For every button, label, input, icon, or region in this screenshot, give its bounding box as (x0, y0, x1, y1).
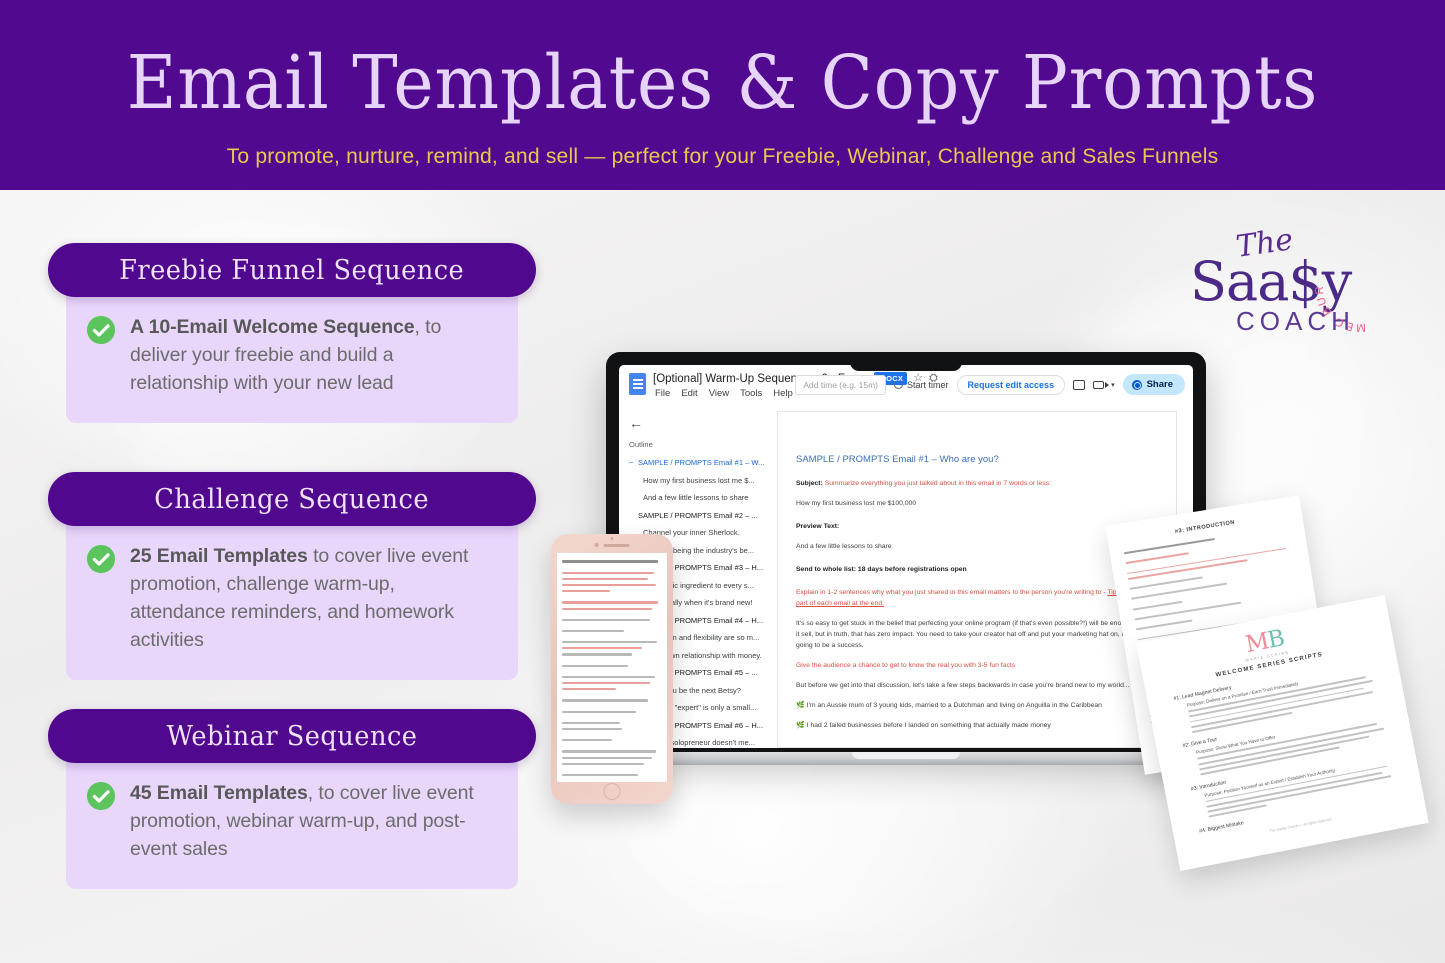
doc-instruction-1: Explain in 1-2 sentences why what you ju… (796, 587, 1160, 609)
subject-prompt: Summarize everything you just talked abo… (825, 480, 1051, 487)
timer-icon (894, 380, 903, 389)
share-globe-icon (1132, 380, 1142, 390)
card-text: A 10-Email Welcome Sequence, to deliver … (130, 313, 494, 397)
doc-instruction-2: Give the audience a chance to get to kno… (796, 660, 1160, 671)
phone-screen (557, 553, 667, 782)
phone-speaker (595, 543, 630, 547)
phone-text-line (562, 763, 644, 765)
doc-body-1: It's so easy to get stuck in the belief … (796, 618, 1160, 651)
request-edit-access-button[interactable]: Request edit access (957, 375, 1066, 395)
check-circle-icon (86, 315, 116, 345)
phone-text-line (562, 608, 652, 610)
page-header: Email Templates & Copy Prompts To promot… (0, 0, 1445, 190)
laptop-screen: [Optional] Warm-Up Sequence x 6 - For ..… (619, 365, 1193, 748)
phone-mockup (551, 534, 673, 804)
comment-icon[interactable] (1073, 380, 1085, 390)
card-heading: Webinar Sequence (167, 721, 418, 752)
share-label: Share (1147, 379, 1173, 390)
outline-heading[interactable]: SAMPLE / PROMPTS Email #2 – ... (629, 511, 765, 520)
card-text: 45 Email Templates, to cover live event … (130, 779, 494, 863)
docs-topbar: [Optional] Warm-Up Sequence x 6 - For ..… (619, 365, 1193, 409)
docs-body: ← Outline SAMPLE / PROMPTS Email #1 – W.… (619, 409, 1193, 748)
menu-tools[interactable]: Tools (740, 388, 762, 399)
card-body: A 10-Email Welcome Sequence, to deliver … (66, 287, 518, 423)
brand-logo: The Saa$y COACH MEC BURRAGE (1188, 228, 1403, 340)
docs-toolbar-right: Add time (e.g. 15m) Start timer Request … (795, 374, 1185, 395)
phone-text-line (562, 584, 656, 586)
phone-text-line (562, 739, 612, 741)
feature-card-webinar: Webinar Sequence 45 Email Templates, to … (48, 709, 536, 889)
spacer (562, 780, 662, 782)
phone-text-line (562, 572, 654, 574)
chevron-down-icon[interactable]: ▾ (1111, 381, 1115, 389)
menu-edit[interactable]: Edit (681, 388, 697, 399)
camera-lens (1105, 382, 1109, 388)
doc-bullet-2: I had 2 failed businesses before I lande… (796, 720, 1160, 731)
camera-body (1093, 381, 1104, 389)
phone-camera-icon (611, 537, 614, 540)
menu-view[interactable]: View (709, 388, 729, 399)
card-text: 25 Email Templates to cover live event p… (130, 542, 494, 654)
share-button[interactable]: Share (1123, 374, 1185, 395)
card-text-bold: 45 Email Templates (130, 782, 308, 804)
feature-card-freebie: Freebie Funnel Sequence A 10-Email Welco… (48, 243, 536, 423)
spacer (562, 660, 662, 665)
phone-earpiece (604, 544, 630, 547)
menu-file[interactable]: File (655, 388, 670, 399)
laptop-base-notch (852, 752, 960, 759)
phone-text-line (562, 653, 632, 655)
phone-text-line (562, 641, 657, 643)
menu-help[interactable]: Help (773, 388, 793, 399)
card-body: 25 Email Templates to cover live event p… (66, 516, 518, 680)
phone-text-line (562, 699, 648, 701)
phone-text-line (562, 590, 610, 592)
start-timer-label: Start timer (907, 380, 949, 390)
doc-subject-line: Subject: Summarize everything you just t… (796, 478, 1160, 489)
check-circle-icon (86, 781, 116, 811)
card-header-pill: Webinar Sequence (48, 709, 536, 763)
phone-text-line (562, 750, 656, 752)
spacer (562, 567, 662, 572)
phone-text-line (562, 722, 620, 724)
doc-send-line: Send to whole list: 18 days before regis… (796, 564, 1160, 575)
outline-label: Outline (629, 440, 765, 449)
phone-text-line (562, 774, 638, 776)
card-heading: Challenge Sequence (155, 484, 430, 515)
doc-body-2: But before we get into that discussion, … (796, 680, 1160, 691)
phone-text-line (562, 578, 648, 580)
phone-text-line (562, 560, 658, 563)
check-circle-icon (86, 544, 116, 574)
card-header-pill: Challenge Sequence (48, 472, 536, 526)
page-title: Email Templates & Copy Prompts (58, 44, 1387, 122)
doc-preview-value: And a few little lessons to share (796, 541, 1160, 552)
phone-text-line (562, 688, 616, 690)
phone-text-line (562, 601, 658, 603)
phone-text-line (562, 630, 624, 632)
back-arrow-icon[interactable]: ← (629, 415, 765, 431)
phone-text-line (562, 711, 636, 713)
phone-home-button[interactable] (604, 783, 621, 800)
doc-heading: SAMPLE / PROMPTS Email #1 – Who are you? (796, 454, 1160, 465)
card-body: 45 Email Templates, to cover live event … (66, 753, 518, 889)
phone-text-line (562, 665, 628, 667)
phone-text-line (562, 619, 650, 621)
phone-text-line (562, 757, 652, 759)
printable-page-welcome-series: MB MARIE CLAIRE WELCOME SERIES SCRIPTS #… (1136, 595, 1429, 871)
card-text-bold: A 10-Email Welcome Sequence (130, 316, 415, 338)
feature-card-challenge: Challenge Sequence 25 Email Templates to… (48, 472, 536, 680)
page-subtitle: To promote, nurture, remind, and sell — … (14, 143, 1430, 169)
outline-sub[interactable]: And a few little lessons to share (643, 493, 765, 502)
subject-label: Subject: (796, 480, 823, 487)
card-heading: Freebie Funnel Sequence (119, 255, 464, 286)
spacer (562, 614, 662, 619)
doc-bullet-1: I'm an Aussie mum of 3 young kids, marri… (796, 700, 1160, 711)
spacer (562, 706, 662, 711)
phone-text-line (562, 676, 655, 678)
outline-heading[interactable]: SAMPLE / PROMPTS Email #1 – W... (629, 458, 765, 467)
outline-sub[interactable]: How my first business lost me $... (643, 476, 765, 485)
card-text-bold: 25 Email Templates (130, 545, 308, 567)
add-time-input[interactable]: Add time (e.g. 15m) (795, 375, 886, 395)
card-header-pill: Freebie Funnel Sequence (48, 243, 536, 297)
laptop-camera-notch (850, 352, 962, 371)
phone-text-line (562, 682, 650, 684)
phone-text-line (562, 728, 622, 730)
google-docs-icon (629, 373, 646, 395)
phone-sensor-dot (595, 543, 599, 547)
video-camera-icon[interactable]: ▾ (1093, 381, 1115, 389)
logo-arc-icon: MEC BURRAGE (1313, 242, 1405, 334)
start-timer-button[interactable]: Start timer (894, 380, 949, 390)
logo-arc-text: MEC BURRAGE (1313, 242, 1366, 333)
phone-text-line (562, 647, 642, 649)
instruction-1-text: Explain in 1-2 sentences why what you ju… (796, 589, 1107, 596)
doc-subject-value: How my first business lost me $100,000 (796, 498, 1160, 509)
